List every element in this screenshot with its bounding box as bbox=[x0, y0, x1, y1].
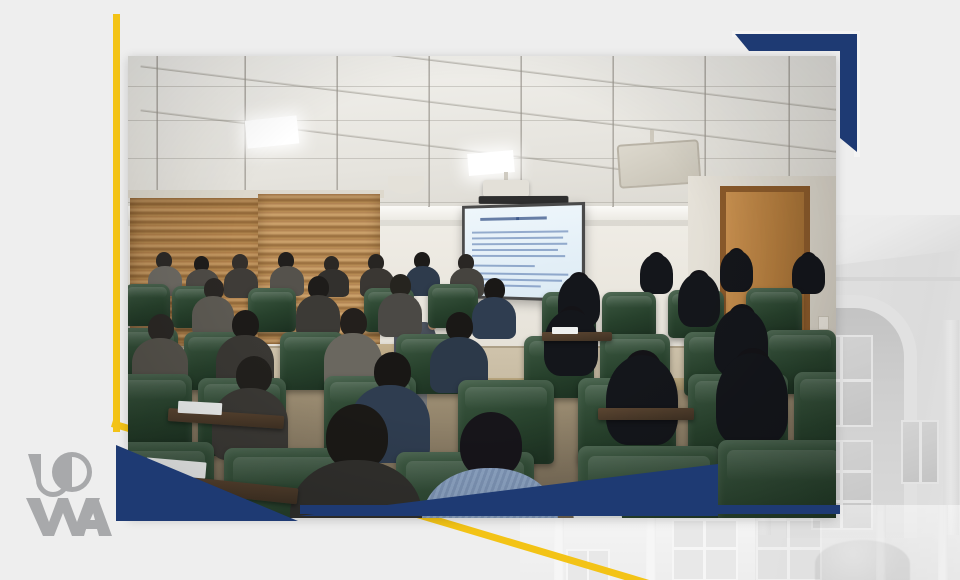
facade-column bbox=[938, 505, 948, 580]
gold-frame-vertical bbox=[113, 14, 120, 432]
navy-corner-bracket bbox=[735, 34, 857, 152]
facade-window bbox=[756, 519, 822, 580]
lecture-hall-photograph bbox=[128, 56, 836, 518]
facade-column bbox=[876, 505, 886, 580]
bracket-right-arm bbox=[840, 34, 857, 152]
navy-bottom-strip bbox=[300, 505, 840, 514]
backdrop-pillar bbox=[943, 320, 959, 535]
banner-stage bbox=[0, 0, 960, 580]
uowa-logo bbox=[26, 452, 112, 536]
photo-vignette bbox=[128, 56, 836, 518]
facade-window bbox=[672, 519, 738, 580]
bracket-top-arm bbox=[735, 34, 857, 51]
backdrop-window bbox=[901, 420, 939, 484]
